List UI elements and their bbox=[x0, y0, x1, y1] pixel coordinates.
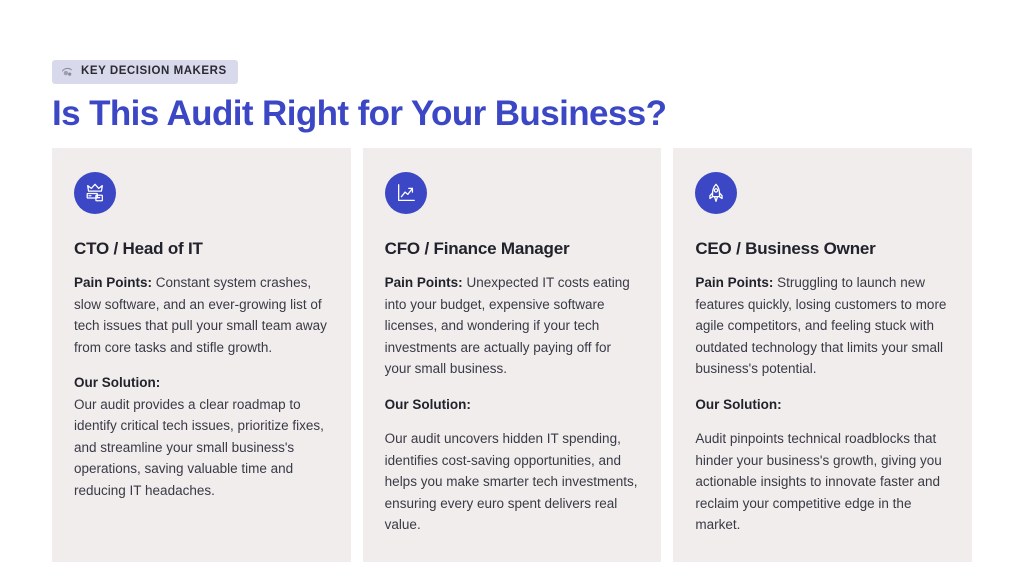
pain-points-paragraph: Pain Points: Struggling to launch new fe… bbox=[695, 272, 950, 380]
trending-up-chart-icon bbox=[385, 172, 427, 214]
pain-points-label: Pain Points: bbox=[695, 275, 773, 290]
section-eyebrow-label: KEY DECISION MAKERS bbox=[81, 66, 227, 78]
pain-points-text: Struggling to launch new features quickl… bbox=[695, 275, 946, 376]
rocket-icon bbox=[695, 172, 737, 214]
solution-text: Our audit provides a clear roadmap to id… bbox=[74, 394, 329, 502]
solution-text: Our audit uncovers hidden IT spending, i… bbox=[385, 428, 640, 536]
detective-icon bbox=[61, 66, 74, 79]
slide-root: KEY DECISION MAKERS Is This Audit Right … bbox=[0, 0, 1024, 576]
pain-points-text: Unexpected IT costs eating into your bud… bbox=[385, 275, 630, 376]
pain-points-paragraph: Pain Points: Constant system crashes, sl… bbox=[74, 272, 329, 358]
persona-card-grid: CTO / Head of IT Pain Points: Constant s… bbox=[52, 148, 972, 562]
section-eyebrow-badge: KEY DECISION MAKERS bbox=[52, 60, 238, 84]
persona-card: CFO / Finance Manager Pain Points: Unexp… bbox=[363, 148, 662, 562]
persona-card: CTO / Head of IT Pain Points: Constant s… bbox=[52, 148, 351, 562]
solution-text: Audit pinpoints technical roadblocks tha… bbox=[695, 428, 950, 536]
page-title: Is This Audit Right for Your Business? bbox=[52, 94, 666, 134]
persona-title: CFO / Finance Manager bbox=[385, 238, 640, 260]
solution-label: Our Solution: bbox=[74, 372, 329, 394]
persona-title: CEO / Business Owner bbox=[695, 238, 950, 260]
solution-label: Our Solution: bbox=[695, 394, 950, 416]
persona-card: CEO / Business Owner Pain Points: Strugg… bbox=[673, 148, 972, 562]
pain-points-paragraph: Pain Points: Unexpected IT costs eating … bbox=[385, 272, 640, 380]
solution-label: Our Solution: bbox=[385, 394, 640, 416]
server-rack-icon bbox=[74, 172, 116, 214]
pain-points-label: Pain Points: bbox=[385, 275, 463, 290]
persona-title: CTO / Head of IT bbox=[74, 238, 329, 260]
pain-points-label: Pain Points: bbox=[74, 275, 152, 290]
